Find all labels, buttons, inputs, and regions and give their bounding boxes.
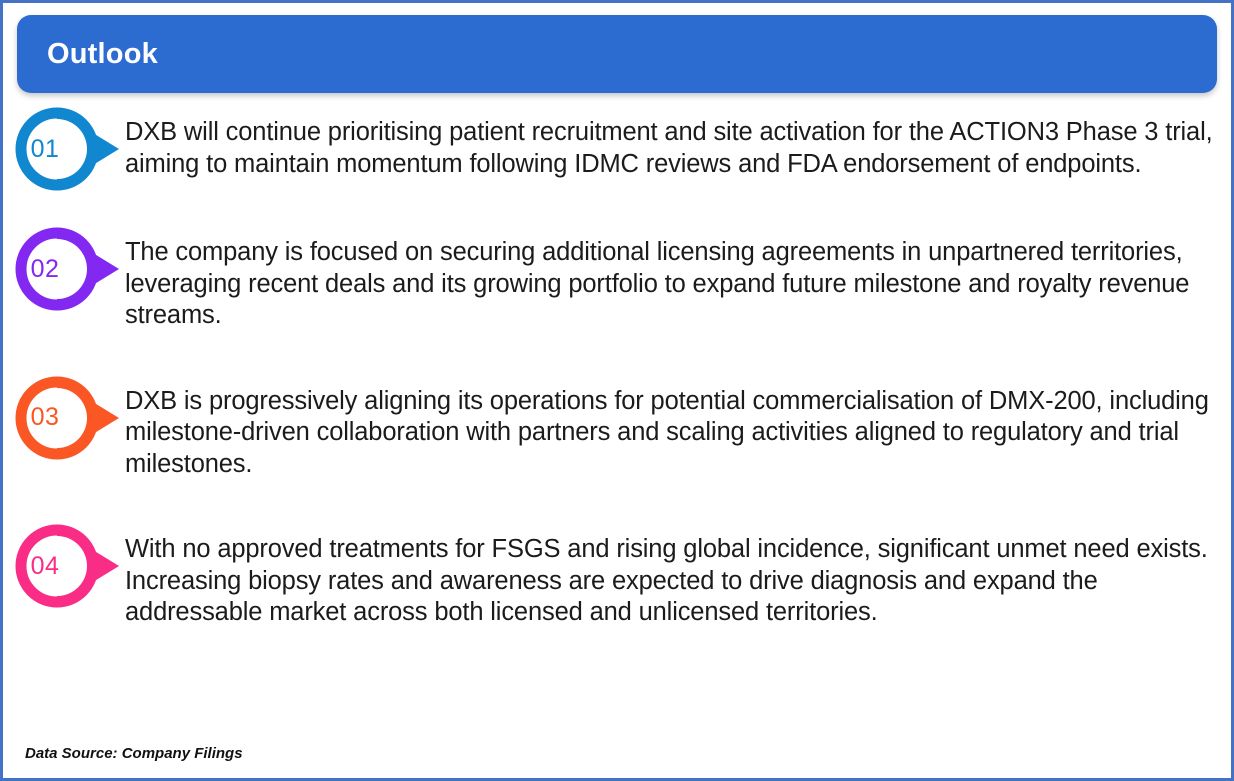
data-source-note: Data Source: Company Filings [25, 745, 243, 762]
page-title: Outlook [17, 38, 158, 71]
list-item-text: The company is focused on securing addit… [125, 227, 1234, 332]
list-item: 04 With no approved treatments for FSGS … [3, 524, 1234, 629]
badge-wrap: 02 [3, 227, 125, 311]
list-item: 03 DXB is progressively aligning its ope… [3, 376, 1234, 481]
list-item: 01 DXB will continue prioritising patien… [3, 107, 1234, 191]
header-banner: Outlook [17, 15, 1217, 93]
badge-wrap: 04 [3, 524, 125, 608]
slide-container: Outlook 01 DXB will continue prioritisin… [0, 0, 1234, 781]
badge-wrap: 01 [3, 107, 125, 191]
badge-number: 04 [9, 524, 81, 608]
list-item: 02 The company is focused on securing ad… [3, 227, 1234, 332]
outlook-points-list: 01 DXB will continue prioritising patien… [3, 99, 1234, 629]
badge-number: 03 [9, 376, 81, 460]
badge-number: 01 [9, 107, 81, 191]
list-item-text: DXB will continue prioritising patient r… [125, 107, 1234, 180]
list-item-text: DXB is progressively aligning its operat… [125, 376, 1234, 481]
badge-wrap: 03 [3, 376, 125, 460]
list-item-text: With no approved treatments for FSGS and… [125, 524, 1234, 629]
badge-number: 02 [9, 227, 81, 311]
